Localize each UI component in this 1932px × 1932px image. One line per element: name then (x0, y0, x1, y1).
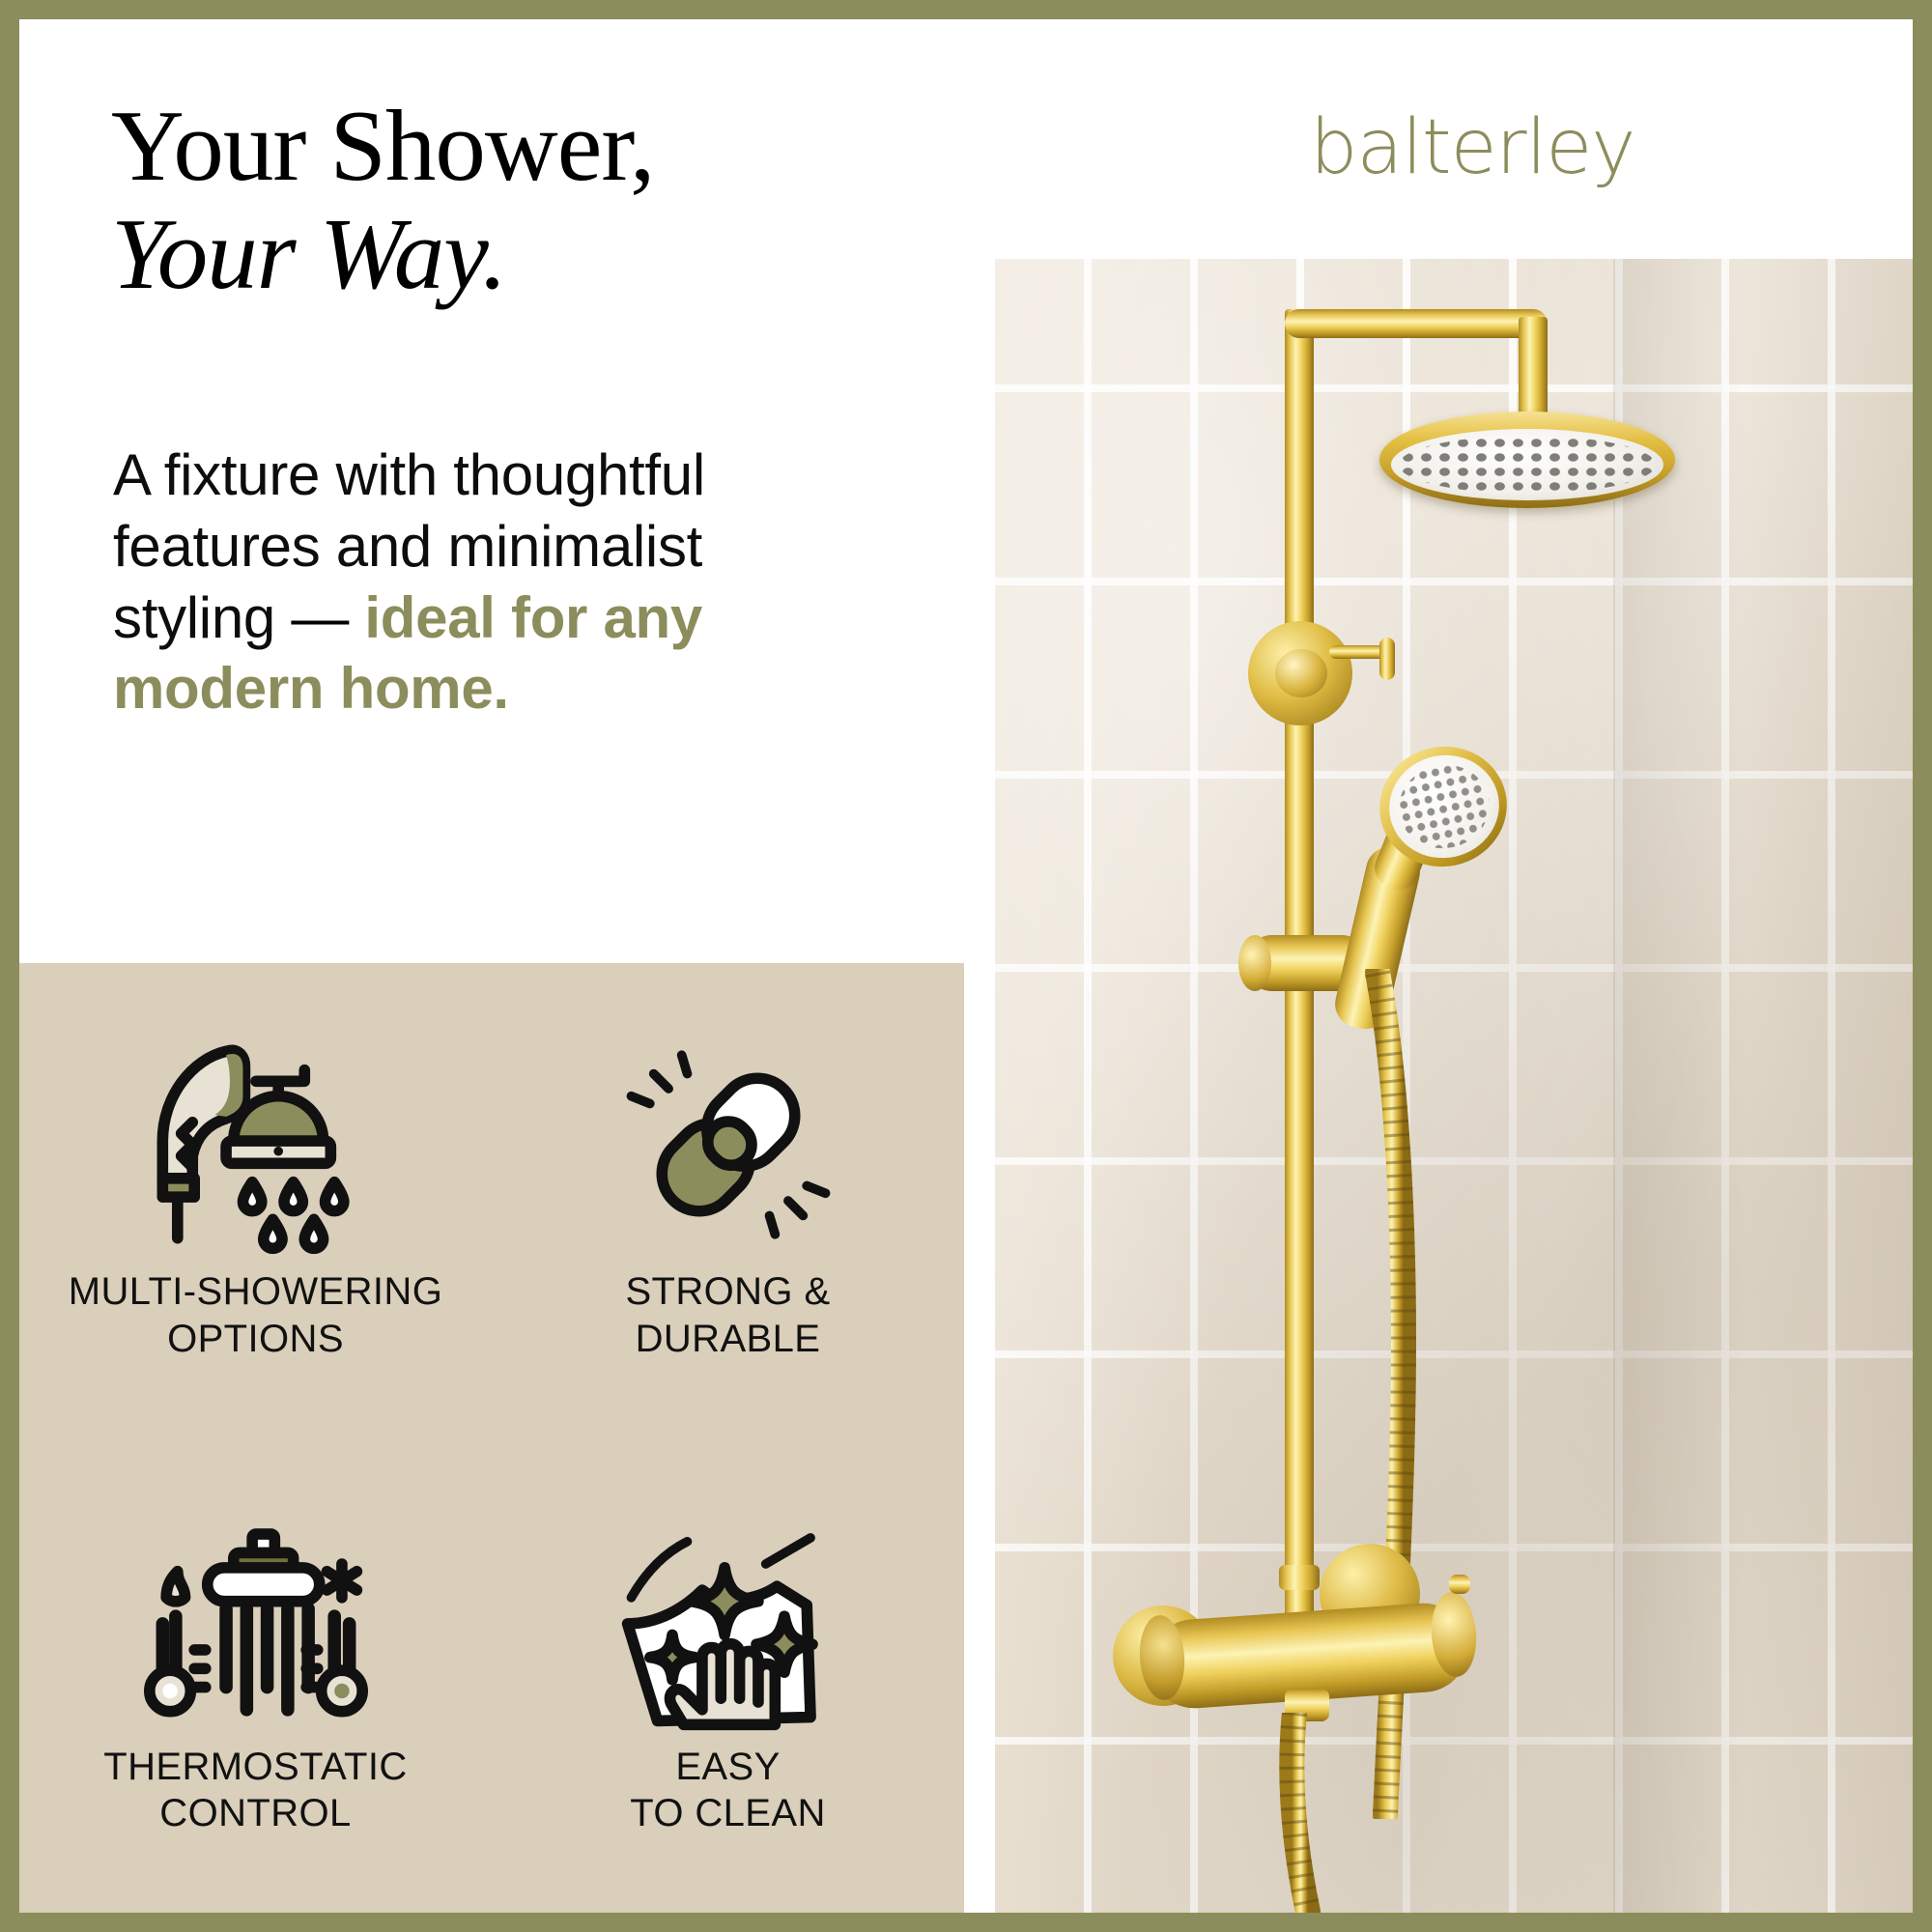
features-panel: MULTI-SHOWERING OPTIONS (19, 963, 964, 1913)
feature-label-strong-durable: STRONG & DURABLE (625, 1268, 830, 1363)
sparkle-cloth-icon (616, 1508, 840, 1732)
photo-column: balterley (964, 19, 1913, 1913)
brand-logo: balterley (1310, 104, 1634, 191)
headline-block: Your Shower, Your Way. (111, 92, 942, 309)
thermostatic-icon (144, 1508, 368, 1732)
subcopy-block: A fixture with thoughtful features and m… (113, 440, 789, 724)
feature-item-multi-showering: MULTI-SHOWERING OPTIONS (19, 963, 492, 1438)
headline-line-2: Your Way. (111, 200, 942, 308)
feature-item-strong-durable: STRONG & DURABLE (492, 963, 964, 1438)
subcopy-dash: — (291, 585, 349, 650)
valve-override-button (1449, 1575, 1470, 1594)
diverter-lever-tip (1379, 638, 1395, 680)
feature-label-thermostatic: THERMOSTATIC CONTROL (103, 1744, 407, 1838)
shower-arm-horizontal (1285, 309, 1548, 338)
riser-to-valve-joint (1279, 1565, 1320, 1590)
handset-slider-cap (1238, 935, 1271, 991)
shower-arm-dropper (1519, 317, 1548, 423)
wall-corner-shading (1613, 259, 1913, 1913)
feature-label-multi-showering: MULTI-SHOWERING OPTIONS (69, 1268, 442, 1363)
chain-link-icon (616, 1033, 840, 1257)
multi-showering-icon (144, 1033, 368, 1257)
poster-canvas: Your Shower, Your Way. A fixture with th… (19, 19, 1913, 1913)
copy-panel: Your Shower, Your Way. A fixture with th… (19, 19, 964, 963)
features-grid: MULTI-SHOWERING OPTIONS (19, 963, 964, 1913)
shower-hose-lower (1275, 1713, 1430, 1913)
outer-border-frame: Your Shower, Your Way. A fixture with th… (0, 0, 1932, 1932)
diverter-knob (1275, 649, 1327, 697)
rain-shower-head-jets (1399, 436, 1656, 494)
feature-item-easy-clean: EASY TO CLEAN (492, 1438, 964, 1914)
left-column: Your Shower, Your Way. A fixture with th… (19, 19, 964, 1913)
headline-line-1: Your Shower, (111, 92, 942, 200)
feature-label-easy-clean: EASY TO CLEAN (630, 1744, 826, 1838)
product-photo (995, 259, 1913, 1913)
feature-item-thermostatic: THERMOSTATIC CONTROL (19, 1438, 492, 1914)
